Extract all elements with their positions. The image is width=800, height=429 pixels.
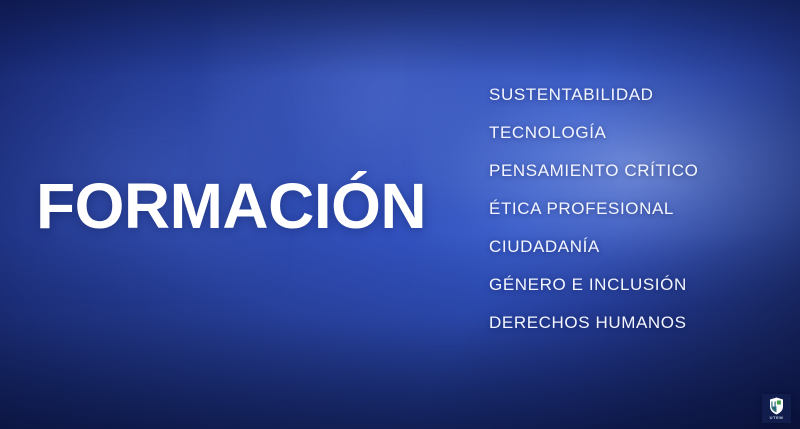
list-item: GÉNERO E INCLUSIÓN <box>489 276 698 314</box>
logo-caption: UTEM <box>770 416 784 420</box>
list-item: ÉTICA PROFESIONAL <box>489 200 698 238</box>
utem-logo-badge: UTEM <box>762 394 791 423</box>
list-item: SUSTENTABILIDAD <box>489 86 698 124</box>
list-item: DERECHOS HUMANOS <box>489 314 698 352</box>
topic-list: SUSTENTABILIDAD TECNOLOGÍA PENSAMIENTO C… <box>489 86 698 352</box>
list-item: PENSAMIENTO CRÍTICO <box>489 162 698 200</box>
slide-title: FORMACIÓN <box>36 174 426 238</box>
shield-icon <box>769 397 784 415</box>
presentation-slide: FORMACIÓN SUSTENTABILIDAD TECNOLOGÍA PEN… <box>0 0 800 429</box>
list-item: TECNOLOGÍA <box>489 124 698 162</box>
list-item: CIUDADANÍA <box>489 238 698 276</box>
